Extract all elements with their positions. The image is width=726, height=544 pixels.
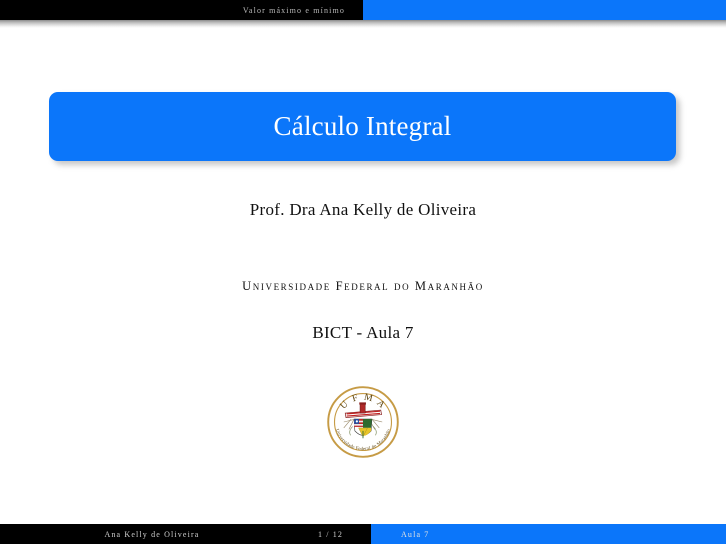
title-block-wrapper: Cálculo Integral (49, 92, 676, 161)
institute-name: Universidade Federal do Maranhão (0, 279, 726, 294)
slide-headline: Valor máximo e mínimo (0, 0, 726, 20)
footer-author: Ana Kelly de Oliveira (104, 530, 199, 539)
page-title: Cálculo Integral (274, 111, 452, 142)
course-and-lecture: BICT - Aula 7 (0, 323, 726, 343)
footer-page-segment: 1 / 12 (290, 524, 371, 544)
ufma-logo-icon: U F M A Universidade Federal do Maranhão (326, 385, 400, 459)
footer-page-number: 1 / 12 (318, 530, 343, 539)
headline-shadow (0, 20, 726, 28)
footer-author-segment: Ana Kelly de Oliveira (0, 524, 290, 544)
headline-left-segment: Valor máximo e mínimo (0, 0, 363, 20)
author-name: Prof. Dra Ana Kelly de Oliveira (0, 200, 726, 220)
footer-subject: Aula 7 (401, 530, 429, 539)
logo-area: U F M A Universidade Federal do Maranhão (292, 368, 433, 480)
headline-right-segment (363, 0, 726, 20)
slide-footline: Ana Kelly de Oliveira 1 / 12 Aula 7 (0, 524, 726, 544)
footer-subject-segment: Aula 7 (371, 524, 726, 544)
section-title: Valor máximo e mínimo (243, 6, 345, 15)
title-block: Cálculo Integral (49, 92, 676, 161)
